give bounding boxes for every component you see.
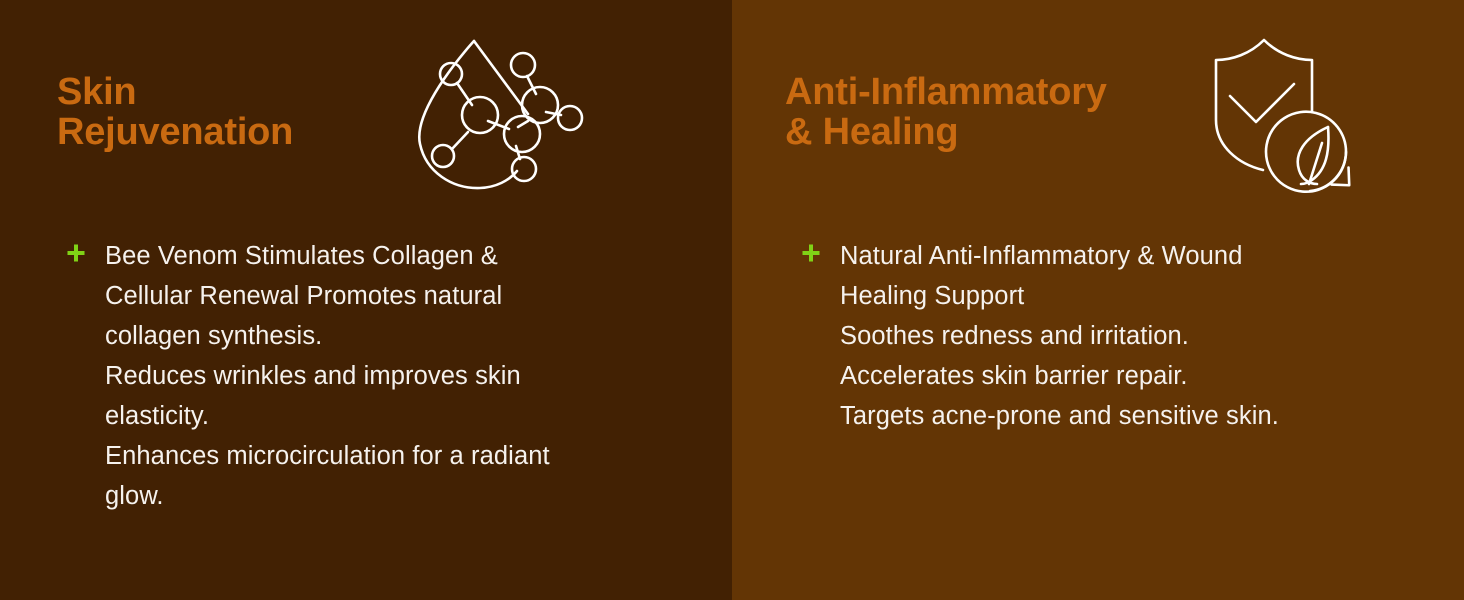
- plus-icon: [66, 243, 86, 263]
- panel-title-skin-rejuvenation: Skin Rejuvenation: [57, 72, 293, 153]
- shield-leaf-icon: [1200, 34, 1370, 194]
- panel-anti-inflammatory-healing: Anti-Inflammatory & Healing: [732, 0, 1464, 600]
- list-item-text: Bee Venom Stimulates Collagen & Cellular…: [105, 236, 686, 516]
- list-item: Bee Venom Stimulates Collagen & Cellular…: [66, 236, 686, 516]
- benefit-list-skin-rejuvenation: Bee Venom Stimulates Collagen & Cellular…: [66, 236, 686, 516]
- benefits-board: Skin Rejuvenation: [0, 0, 1464, 600]
- panel-skin-rejuvenation: Skin Rejuvenation: [0, 0, 732, 600]
- droplet-molecule-icon: [410, 36, 590, 196]
- panel-title-anti-inflammatory-healing: Anti-Inflammatory & Healing: [785, 72, 1107, 153]
- list-item: Natural Anti-Inflammatory & Wound Healin…: [801, 236, 1401, 436]
- list-item-text: Natural Anti-Inflammatory & Wound Healin…: [840, 236, 1401, 436]
- plus-icon: [801, 243, 821, 263]
- benefit-list-anti-inflammatory-healing: Natural Anti-Inflammatory & Wound Healin…: [801, 236, 1401, 436]
